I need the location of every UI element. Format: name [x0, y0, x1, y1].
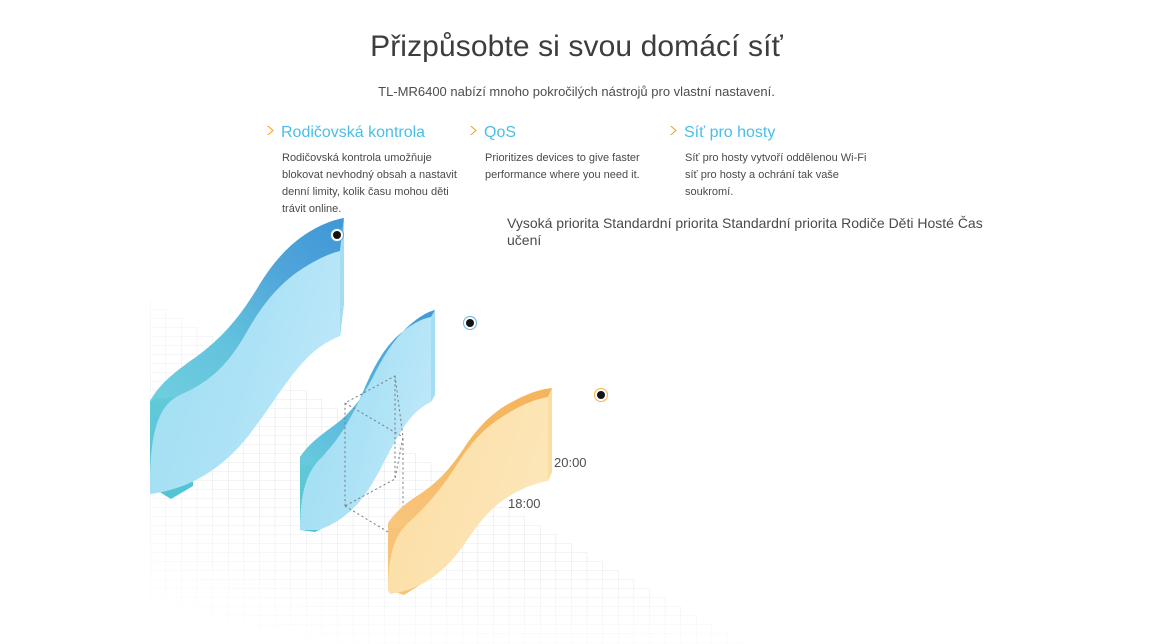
chevron-right-icon [669, 125, 678, 136]
time-label-start: 18:00 [508, 496, 541, 511]
feature-heading-row: Síť pro hosty [669, 124, 879, 142]
feature-heading-row: QoS [469, 124, 649, 142]
feature-title: Rodičovská kontrola [281, 124, 425, 142]
feature-guest-network: Síť pro hosty Síť pro hosty vytvoří oddě… [669, 124, 879, 201]
marker-guest [594, 388, 608, 402]
marker-high-priority [330, 228, 344, 242]
feature-section: Přizpůsobte si svou domácí síť TL-MR6400… [0, 0, 1153, 644]
feature-title: Síť pro hosty [684, 124, 775, 142]
marker-standard-priority [463, 316, 477, 330]
chevron-right-icon [266, 125, 275, 136]
feature-heading-row: Rodičovská kontrola [266, 124, 466, 142]
page-subtitle: TL-MR6400 nabízí mnoho pokročilých nástr… [0, 83, 1153, 101]
feature-description: Síť pro hosty vytvoří oddělenou Wi-Fi sí… [669, 150, 879, 201]
feature-parental-control: Rodičovská kontrola Rodičovská kontrola … [266, 124, 466, 218]
feature-title: QoS [484, 124, 516, 142]
page-title: Přizpůsobte si svou domácí síť [0, 28, 1153, 66]
chevron-right-icon [469, 125, 478, 136]
chart-overlay-labels: Vysoká priorita Standardní priorita Stan… [507, 215, 987, 249]
chart-overlay-text: Vysoká priorita Standardní priorita Stan… [507, 215, 983, 248]
feature-description: Prioritizes devices to give faster perfo… [469, 150, 649, 184]
feature-qos: QoS Prioritizes devices to give faster p… [469, 124, 649, 184]
feature-list: Rodičovská kontrola Rodičovská kontrola … [266, 124, 906, 204]
network-usage-illustration [0, 205, 1153, 644]
time-label-end: 20:00 [554, 455, 587, 470]
